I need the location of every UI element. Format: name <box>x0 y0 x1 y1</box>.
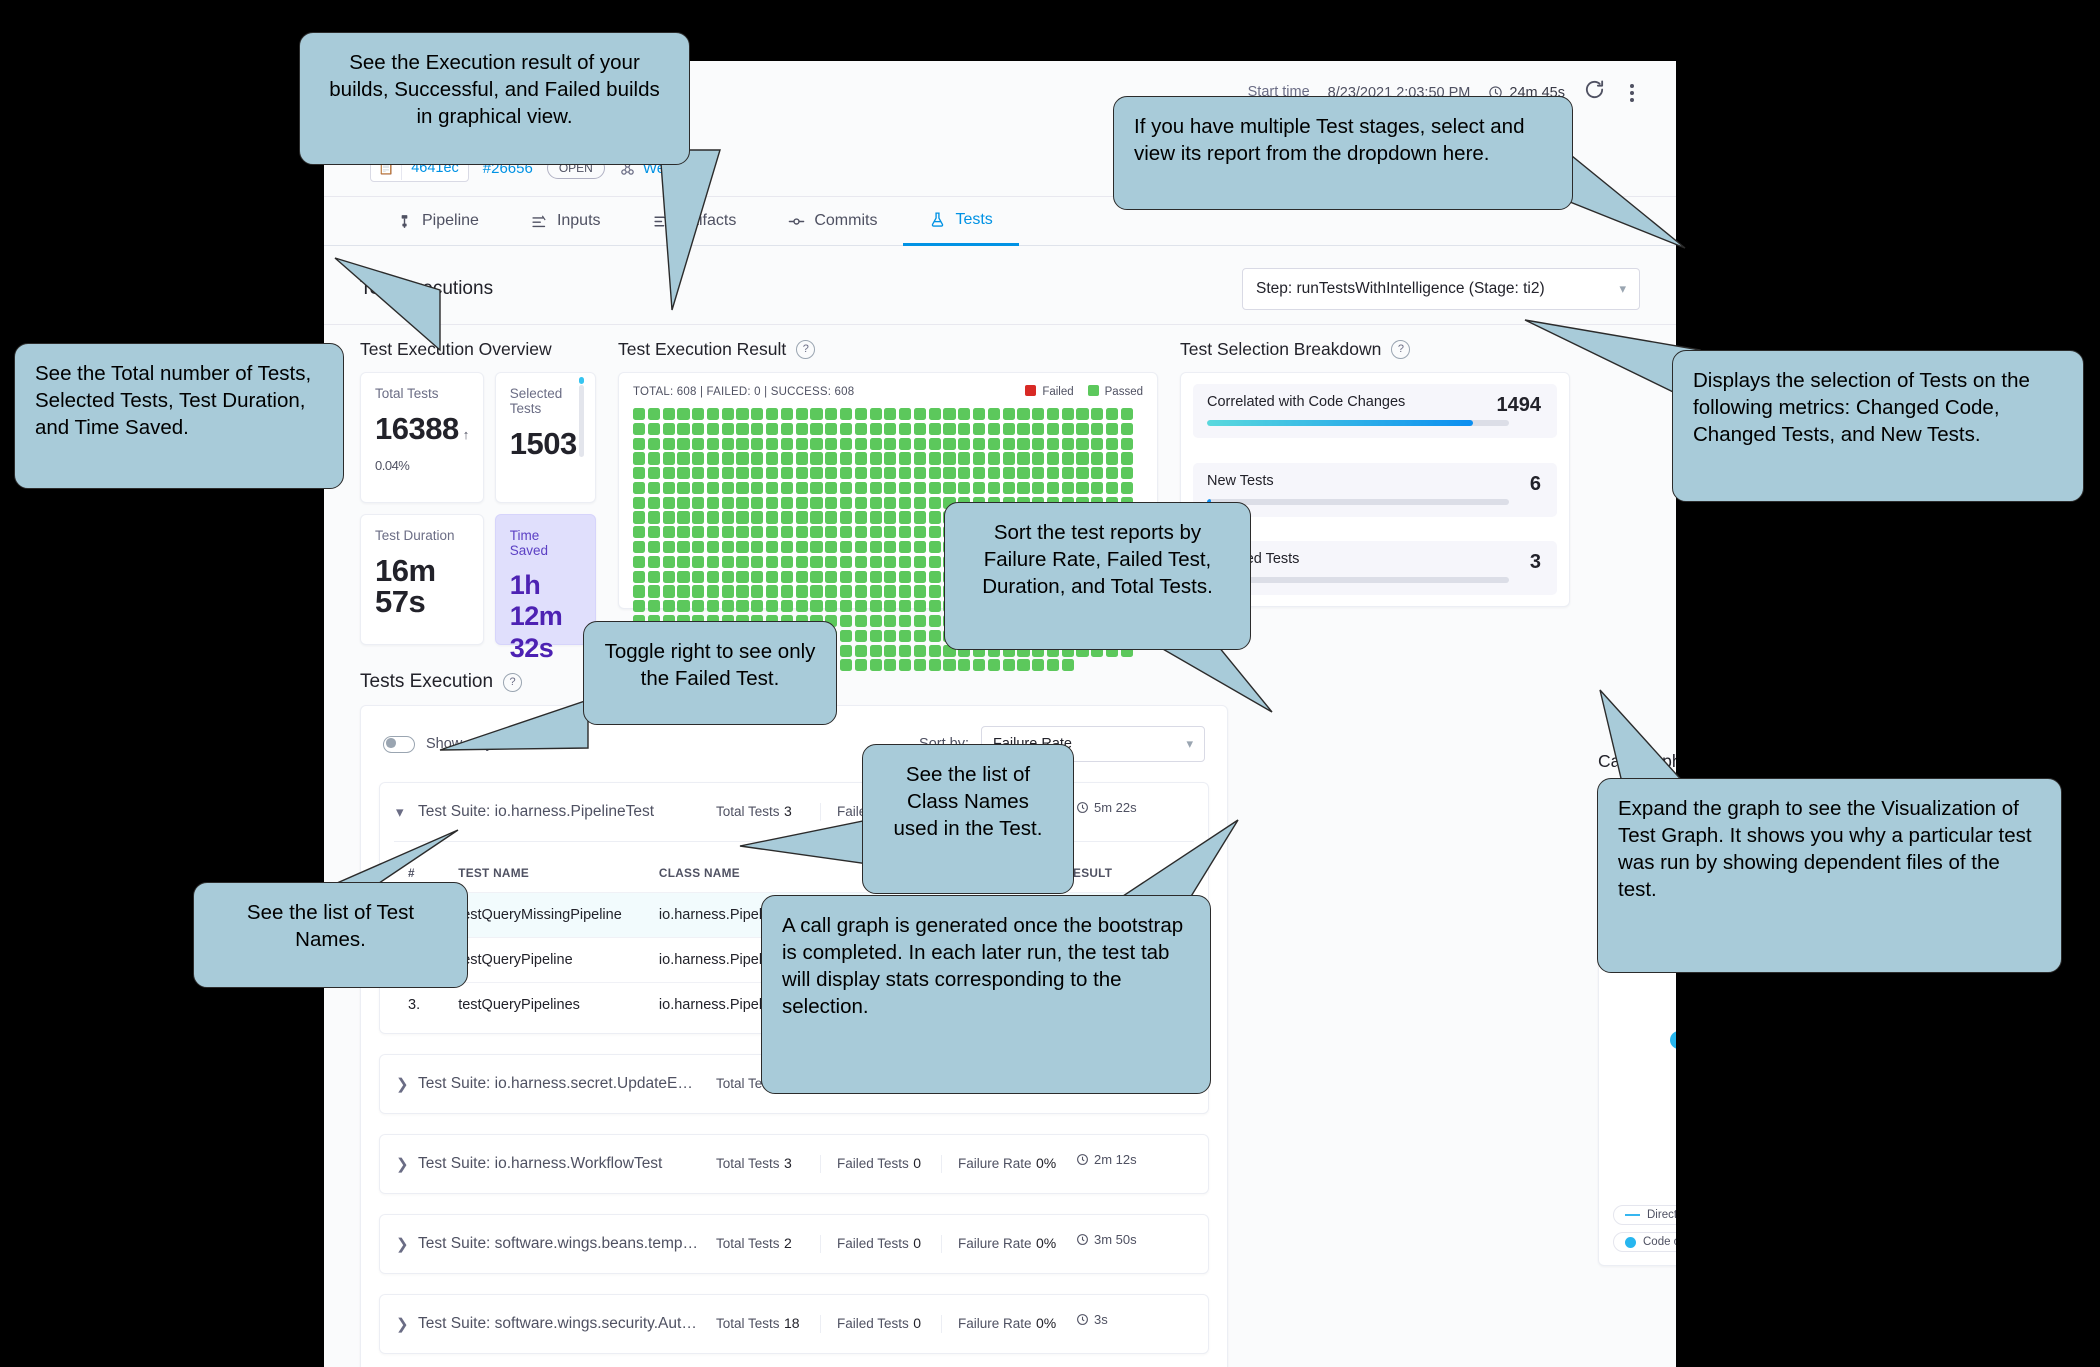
test-result-dot[interactable] <box>1047 423 1059 435</box>
test-result-dot[interactable] <box>1076 423 1088 435</box>
test-result-dot[interactable] <box>870 585 882 597</box>
test-result-dot[interactable] <box>692 423 704 435</box>
tab-pipeline[interactable]: Pipeline <box>370 198 505 245</box>
test-result-dot[interactable] <box>1017 438 1029 450</box>
test-result-dot[interactable] <box>633 497 645 509</box>
test-result-dot[interactable] <box>796 408 808 420</box>
test-result-dot[interactable] <box>648 497 660 509</box>
test-result-dot[interactable] <box>929 497 941 509</box>
test-result-dot[interactable] <box>914 571 926 583</box>
test-result-dot[interactable] <box>870 600 882 612</box>
test-result-dot[interactable] <box>855 497 867 509</box>
test-result-dot[interactable] <box>1003 467 1015 479</box>
test-result-dot[interactable] <box>914 585 926 597</box>
test-result-dot[interactable] <box>929 452 941 464</box>
test-result-dot[interactable] <box>929 659 941 671</box>
test-result-dot[interactable] <box>692 585 704 597</box>
test-result-dot[interactable] <box>929 630 941 642</box>
test-result-dot[interactable] <box>855 659 867 671</box>
test-result-dot[interactable] <box>929 645 941 657</box>
test-result-dot[interactable] <box>1017 659 1029 671</box>
test-result-dot[interactable] <box>840 497 852 509</box>
test-result-dot[interactable] <box>810 571 822 583</box>
tab-tests[interactable]: Tests <box>903 196 1018 246</box>
test-result-dot[interactable] <box>736 408 748 420</box>
test-result-dot[interactable] <box>884 438 896 450</box>
test-result-dot[interactable] <box>914 423 926 435</box>
test-result-dot[interactable] <box>899 630 911 642</box>
test-result-dot[interactable] <box>929 615 941 627</box>
test-result-dot[interactable] <box>751 600 763 612</box>
test-result-dot[interactable] <box>633 600 645 612</box>
test-result-dot[interactable] <box>722 408 734 420</box>
test-result-dot[interactable] <box>870 438 882 450</box>
test-result-dot[interactable] <box>1003 438 1015 450</box>
test-result-dot[interactable] <box>1032 452 1044 464</box>
test-result-dot[interactable] <box>1062 452 1074 464</box>
test-result-dot[interactable] <box>1003 659 1015 671</box>
test-result-dot[interactable] <box>751 541 763 553</box>
test-result-dot[interactable] <box>825 511 837 523</box>
test-result-dot[interactable] <box>943 659 955 671</box>
test-result-dot[interactable] <box>870 556 882 568</box>
test-result-dot[interactable] <box>914 645 926 657</box>
test-result-dot[interactable] <box>1076 482 1088 494</box>
test-result-dot[interactable] <box>722 511 734 523</box>
test-result-dot[interactable] <box>633 482 645 494</box>
test-result-dot[interactable] <box>766 408 778 420</box>
test-result-dot[interactable] <box>692 600 704 612</box>
test-result-dot[interactable] <box>766 541 778 553</box>
test-result-dot[interactable] <box>884 482 896 494</box>
test-result-dot[interactable] <box>1032 423 1044 435</box>
test-result-dot[interactable] <box>736 467 748 479</box>
test-result-dot[interactable] <box>840 511 852 523</box>
test-result-dot[interactable] <box>766 556 778 568</box>
test-result-dot[interactable] <box>781 541 793 553</box>
test-result-dot[interactable] <box>825 452 837 464</box>
test-result-dot[interactable] <box>1076 408 1088 420</box>
test-result-dot[interactable] <box>870 526 882 538</box>
test-result-dot[interactable] <box>929 600 941 612</box>
test-result-dot[interactable] <box>914 467 926 479</box>
test-result-dot[interactable] <box>973 408 985 420</box>
test-result-dot[interactable] <box>751 497 763 509</box>
test-result-dot[interactable] <box>929 438 941 450</box>
test-result-dot[interactable] <box>648 423 660 435</box>
test-result-dot[interactable] <box>663 585 675 597</box>
test-result-dot[interactable] <box>663 571 675 583</box>
test-result-dot[interactable] <box>796 526 808 538</box>
test-result-dot[interactable] <box>648 556 660 568</box>
card-test-duration[interactable]: Test Duration 16m 57s <box>360 514 484 645</box>
test-result-dot[interactable] <box>633 423 645 435</box>
test-result-dot[interactable] <box>707 600 719 612</box>
test-result-dot[interactable] <box>1047 482 1059 494</box>
test-result-dot[interactable] <box>1017 452 1029 464</box>
test-result-dot[interactable] <box>914 600 926 612</box>
test-result-dot[interactable] <box>677 571 689 583</box>
refresh-icon[interactable] <box>1583 78 1606 107</box>
test-result-dot[interactable] <box>1106 438 1118 450</box>
test-result-dot[interactable] <box>914 408 926 420</box>
test-result-dot[interactable] <box>1076 438 1088 450</box>
test-result-dot[interactable] <box>781 452 793 464</box>
test-result-dot[interactable] <box>855 630 867 642</box>
test-result-dot[interactable] <box>870 630 882 642</box>
test-result-dot[interactable] <box>884 630 896 642</box>
test-result-dot[interactable] <box>899 571 911 583</box>
test-result-dot[interactable] <box>648 452 660 464</box>
test-result-dot[interactable] <box>648 408 660 420</box>
test-result-dot[interactable] <box>825 408 837 420</box>
test-result-dot[interactable] <box>899 497 911 509</box>
test-result-dot[interactable] <box>1047 408 1059 420</box>
test-result-dot[interactable] <box>1047 659 1059 671</box>
test-result-dot[interactable] <box>663 452 675 464</box>
test-result-dot[interactable] <box>988 659 1000 671</box>
test-result-dot[interactable] <box>825 467 837 479</box>
test-result-dot[interactable] <box>766 526 778 538</box>
test-suite-name[interactable]: Test Suite: software.wings.beans.templat… <box>418 1235 700 1253</box>
test-result-dot[interactable] <box>884 600 896 612</box>
test-result-dot[interactable] <box>914 615 926 627</box>
test-result-dot[interactable] <box>736 600 748 612</box>
test-result-dot[interactable] <box>810 482 822 494</box>
test-result-dot[interactable] <box>810 585 822 597</box>
test-result-dot[interactable] <box>751 511 763 523</box>
test-result-dot[interactable] <box>796 541 808 553</box>
test-result-dot[interactable] <box>825 526 837 538</box>
test-result-dot[interactable] <box>929 526 941 538</box>
test-result-dot[interactable] <box>899 467 911 479</box>
card-total-tests[interactable]: Total Tests 16388↑ 0.04% <box>360 372 484 503</box>
test-result-dot[interactable] <box>840 615 852 627</box>
test-result-dot[interactable] <box>988 452 1000 464</box>
test-result-dot[interactable] <box>988 423 1000 435</box>
test-result-dot[interactable] <box>840 408 852 420</box>
test-result-dot[interactable] <box>796 438 808 450</box>
test-result-dot[interactable] <box>648 585 660 597</box>
test-result-dot[interactable] <box>1076 467 1088 479</box>
test-result-dot[interactable] <box>1062 423 1074 435</box>
test-result-dot[interactable] <box>677 556 689 568</box>
test-result-dot[interactable] <box>870 408 882 420</box>
test-result-dot[interactable] <box>766 482 778 494</box>
card-selected-tests[interactable]: Selected Tests 1503 <box>495 372 596 503</box>
test-result-dot[interactable] <box>870 452 882 464</box>
test-result-dot[interactable] <box>988 467 1000 479</box>
test-result-dot[interactable] <box>633 511 645 523</box>
test-result-dot[interactable] <box>929 423 941 435</box>
test-result-dot[interactable] <box>899 438 911 450</box>
test-result-dot[interactable] <box>692 526 704 538</box>
test-result-dot[interactable] <box>855 482 867 494</box>
test-result-dot[interactable] <box>958 659 970 671</box>
test-result-dot[interactable] <box>988 408 1000 420</box>
test-result-dot[interactable] <box>914 659 926 671</box>
test-result-dot[interactable] <box>958 482 970 494</box>
test-result-dot[interactable] <box>840 467 852 479</box>
test-result-dot[interactable] <box>840 659 852 671</box>
test-result-dot[interactable] <box>943 482 955 494</box>
test-result-dot[interactable] <box>840 423 852 435</box>
test-result-dot[interactable] <box>796 600 808 612</box>
test-result-dot[interactable] <box>751 438 763 450</box>
test-result-dot[interactable] <box>870 615 882 627</box>
test-result-dot[interactable] <box>870 511 882 523</box>
test-result-dot[interactable] <box>1091 423 1103 435</box>
test-result-dot[interactable] <box>663 497 675 509</box>
test-result-dot[interactable] <box>663 482 675 494</box>
test-result-dot[interactable] <box>722 571 734 583</box>
test-result-dot[interactable] <box>855 511 867 523</box>
tab-inputs[interactable]: Inputs <box>505 198 627 245</box>
test-result-dot[interactable] <box>766 585 778 597</box>
test-result-dot[interactable] <box>677 438 689 450</box>
test-result-dot[interactable] <box>825 497 837 509</box>
test-result-dot[interactable] <box>663 600 675 612</box>
test-result-dot[interactable] <box>943 423 955 435</box>
test-result-dot[interactable] <box>677 511 689 523</box>
test-result-dot[interactable] <box>884 467 896 479</box>
test-result-dot[interactable] <box>855 645 867 657</box>
test-result-dot[interactable] <box>884 497 896 509</box>
test-result-dot[interactable] <box>677 541 689 553</box>
test-result-dot[interactable] <box>884 615 896 627</box>
test-result-dot[interactable] <box>840 571 852 583</box>
test-result-dot[interactable] <box>943 438 955 450</box>
test-result-dot[interactable] <box>736 585 748 597</box>
test-result-dot[interactable] <box>855 571 867 583</box>
test-result-dot[interactable] <box>781 497 793 509</box>
test-result-dot[interactable] <box>633 571 645 583</box>
test-result-dot[interactable] <box>692 408 704 420</box>
test-result-dot[interactable] <box>663 438 675 450</box>
test-result-dot[interactable] <box>633 408 645 420</box>
test-result-dot[interactable] <box>692 467 704 479</box>
test-result-dot[interactable] <box>914 511 926 523</box>
test-result-dot[interactable] <box>1017 482 1029 494</box>
test-result-dot[interactable] <box>663 423 675 435</box>
test-result-dot[interactable] <box>1091 482 1103 494</box>
test-result-dot[interactable] <box>1121 452 1133 464</box>
test-result-dot[interactable] <box>914 526 926 538</box>
test-result-dot[interactable] <box>796 585 808 597</box>
test-result-dot[interactable] <box>781 482 793 494</box>
test-result-dot[interactable] <box>1121 482 1133 494</box>
test-result-dot[interactable] <box>899 452 911 464</box>
test-result-dot[interactable] <box>707 526 719 538</box>
test-result-dot[interactable] <box>1121 438 1133 450</box>
test-result-dot[interactable] <box>677 423 689 435</box>
test-suite-name[interactable]: Test Suite: software.wings.security.Auth… <box>418 1315 700 1333</box>
test-result-dot[interactable] <box>884 645 896 657</box>
test-result-dot[interactable] <box>899 556 911 568</box>
test-result-dot[interactable] <box>736 423 748 435</box>
test-result-dot[interactable] <box>973 423 985 435</box>
test-result-dot[interactable] <box>692 556 704 568</box>
question-icon[interactable]: ? <box>503 673 522 692</box>
test-result-dot[interactable] <box>899 615 911 627</box>
test-result-dot[interactable] <box>648 600 660 612</box>
chevron-right-icon[interactable]: ❯ <box>396 1155 418 1173</box>
test-result-dot[interactable] <box>707 541 719 553</box>
test-result-dot[interactable] <box>648 571 660 583</box>
test-result-dot[interactable] <box>943 467 955 479</box>
test-result-dot[interactable] <box>840 585 852 597</box>
test-result-dot[interactable] <box>766 571 778 583</box>
test-result-dot[interactable] <box>929 408 941 420</box>
test-result-dot[interactable] <box>884 452 896 464</box>
test-result-dot[interactable] <box>766 600 778 612</box>
test-result-dot[interactable] <box>1091 408 1103 420</box>
test-result-dot[interactable] <box>988 482 1000 494</box>
test-result-dot[interactable] <box>825 482 837 494</box>
test-result-dot[interactable] <box>1062 408 1074 420</box>
test-result-dot[interactable] <box>810 438 822 450</box>
test-result-dot[interactable] <box>677 497 689 509</box>
test-result-dot[interactable] <box>825 600 837 612</box>
test-result-dot[interactable] <box>929 541 941 553</box>
test-result-dot[interactable] <box>810 497 822 509</box>
test-result-dot[interactable] <box>899 659 911 671</box>
test-result-dot[interactable] <box>914 541 926 553</box>
test-result-dot[interactable] <box>855 541 867 553</box>
test-result-dot[interactable] <box>855 452 867 464</box>
test-result-dot[interactable] <box>825 571 837 583</box>
test-result-dot[interactable] <box>1106 408 1118 420</box>
test-result-dot[interactable] <box>1032 438 1044 450</box>
test-result-dot[interactable] <box>677 585 689 597</box>
test-result-dot[interactable] <box>899 423 911 435</box>
test-result-dot[interactable] <box>840 556 852 568</box>
test-result-dot[interactable] <box>751 482 763 494</box>
test-result-dot[interactable] <box>855 467 867 479</box>
test-result-dot[interactable] <box>781 438 793 450</box>
chevron-down-icon[interactable]: ▾ <box>396 803 418 821</box>
test-result-dot[interactable] <box>677 482 689 494</box>
test-result-dot[interactable] <box>1091 467 1103 479</box>
test-result-dot[interactable] <box>766 423 778 435</box>
test-result-dot[interactable] <box>840 526 852 538</box>
test-result-dot[interactable] <box>810 408 822 420</box>
test-result-dot[interactable] <box>1032 659 1044 671</box>
test-result-dot[interactable] <box>722 585 734 597</box>
test-result-dot[interactable] <box>855 526 867 538</box>
test-result-dot[interactable] <box>663 467 675 479</box>
test-result-dot[interactable] <box>855 556 867 568</box>
test-result-dot[interactable] <box>914 438 926 450</box>
test-result-dot[interactable] <box>722 497 734 509</box>
test-result-dot[interactable] <box>796 497 808 509</box>
test-result-dot[interactable] <box>707 452 719 464</box>
test-result-dot[interactable] <box>958 467 970 479</box>
test-result-dot[interactable] <box>1106 423 1118 435</box>
test-result-dot[interactable] <box>899 585 911 597</box>
test-result-dot[interactable] <box>810 600 822 612</box>
test-result-dot[interactable] <box>914 452 926 464</box>
test-result-dot[interactable] <box>766 452 778 464</box>
chevron-right-icon[interactable]: ❯ <box>396 1075 418 1093</box>
test-result-dot[interactable] <box>648 482 660 494</box>
test-result-dot[interactable] <box>899 511 911 523</box>
test-suite-name[interactable]: Test Suite: io.harness.WorkflowTest <box>418 1155 700 1173</box>
test-result-dot[interactable] <box>914 497 926 509</box>
test-result-dot[interactable] <box>973 659 985 671</box>
test-result-dot[interactable] <box>958 438 970 450</box>
test-result-dot[interactable] <box>1003 408 1015 420</box>
test-result-dot[interactable] <box>766 438 778 450</box>
test-result-dot[interactable] <box>796 452 808 464</box>
test-result-dot[interactable] <box>707 556 719 568</box>
test-result-dot[interactable] <box>943 452 955 464</box>
test-result-dot[interactable] <box>884 408 896 420</box>
test-result-dot[interactable] <box>707 408 719 420</box>
test-result-dot[interactable] <box>677 452 689 464</box>
test-suite-name[interactable]: Test Suite: io.harness.secret.UpdateEncr… <box>418 1075 700 1093</box>
test-result-dot[interactable] <box>692 497 704 509</box>
test-result-dot[interactable] <box>766 511 778 523</box>
test-result-dot[interactable] <box>663 408 675 420</box>
test-result-dot[interactable] <box>899 600 911 612</box>
test-result-dot[interactable] <box>722 556 734 568</box>
test-result-dot[interactable] <box>692 541 704 553</box>
test-result-dot[interactable] <box>884 585 896 597</box>
test-result-dot[interactable] <box>648 541 660 553</box>
test-result-dot[interactable] <box>1032 482 1044 494</box>
test-result-dot[interactable] <box>796 467 808 479</box>
test-result-dot[interactable] <box>677 467 689 479</box>
test-result-dot[interactable] <box>633 526 645 538</box>
test-result-dot[interactable] <box>958 452 970 464</box>
test-result-dot[interactable] <box>663 556 675 568</box>
test-result-dot[interactable] <box>840 630 852 642</box>
test-result-dot[interactable] <box>1062 438 1074 450</box>
question-icon[interactable]: ? <box>1391 340 1410 359</box>
test-result-dot[interactable] <box>663 541 675 553</box>
test-result-dot[interactable] <box>751 408 763 420</box>
test-suite-name[interactable]: Test Suite: io.harness.PipelineTest <box>418 803 700 821</box>
test-result-dot[interactable] <box>677 408 689 420</box>
test-result-dot[interactable] <box>1017 467 1029 479</box>
test-result-dot[interactable] <box>899 408 911 420</box>
test-result-dot[interactable] <box>707 571 719 583</box>
test-result-dot[interactable] <box>692 511 704 523</box>
test-result-dot[interactable] <box>633 541 645 553</box>
test-result-dot[interactable] <box>1003 482 1015 494</box>
test-result-dot[interactable] <box>707 497 719 509</box>
test-result-dot[interactable] <box>1062 482 1074 494</box>
test-result-dot[interactable] <box>781 511 793 523</box>
test-result-dot[interactable] <box>884 659 896 671</box>
test-result-dot[interactable] <box>722 467 734 479</box>
test-result-dot[interactable] <box>736 511 748 523</box>
test-result-dot[interactable] <box>929 482 941 494</box>
test-result-dot[interactable] <box>855 423 867 435</box>
test-result-dot[interactable] <box>796 556 808 568</box>
test-result-dot[interactable] <box>736 556 748 568</box>
test-result-dot[interactable] <box>736 541 748 553</box>
test-result-dot[interactable] <box>781 408 793 420</box>
test-result-dot[interactable] <box>1091 452 1103 464</box>
test-result-dot[interactable] <box>840 645 852 657</box>
test-result-dot[interactable] <box>825 438 837 450</box>
test-result-dot[interactable] <box>707 438 719 450</box>
test-result-dot[interactable] <box>751 585 763 597</box>
test-result-dot[interactable] <box>929 467 941 479</box>
test-result-dot[interactable] <box>692 571 704 583</box>
